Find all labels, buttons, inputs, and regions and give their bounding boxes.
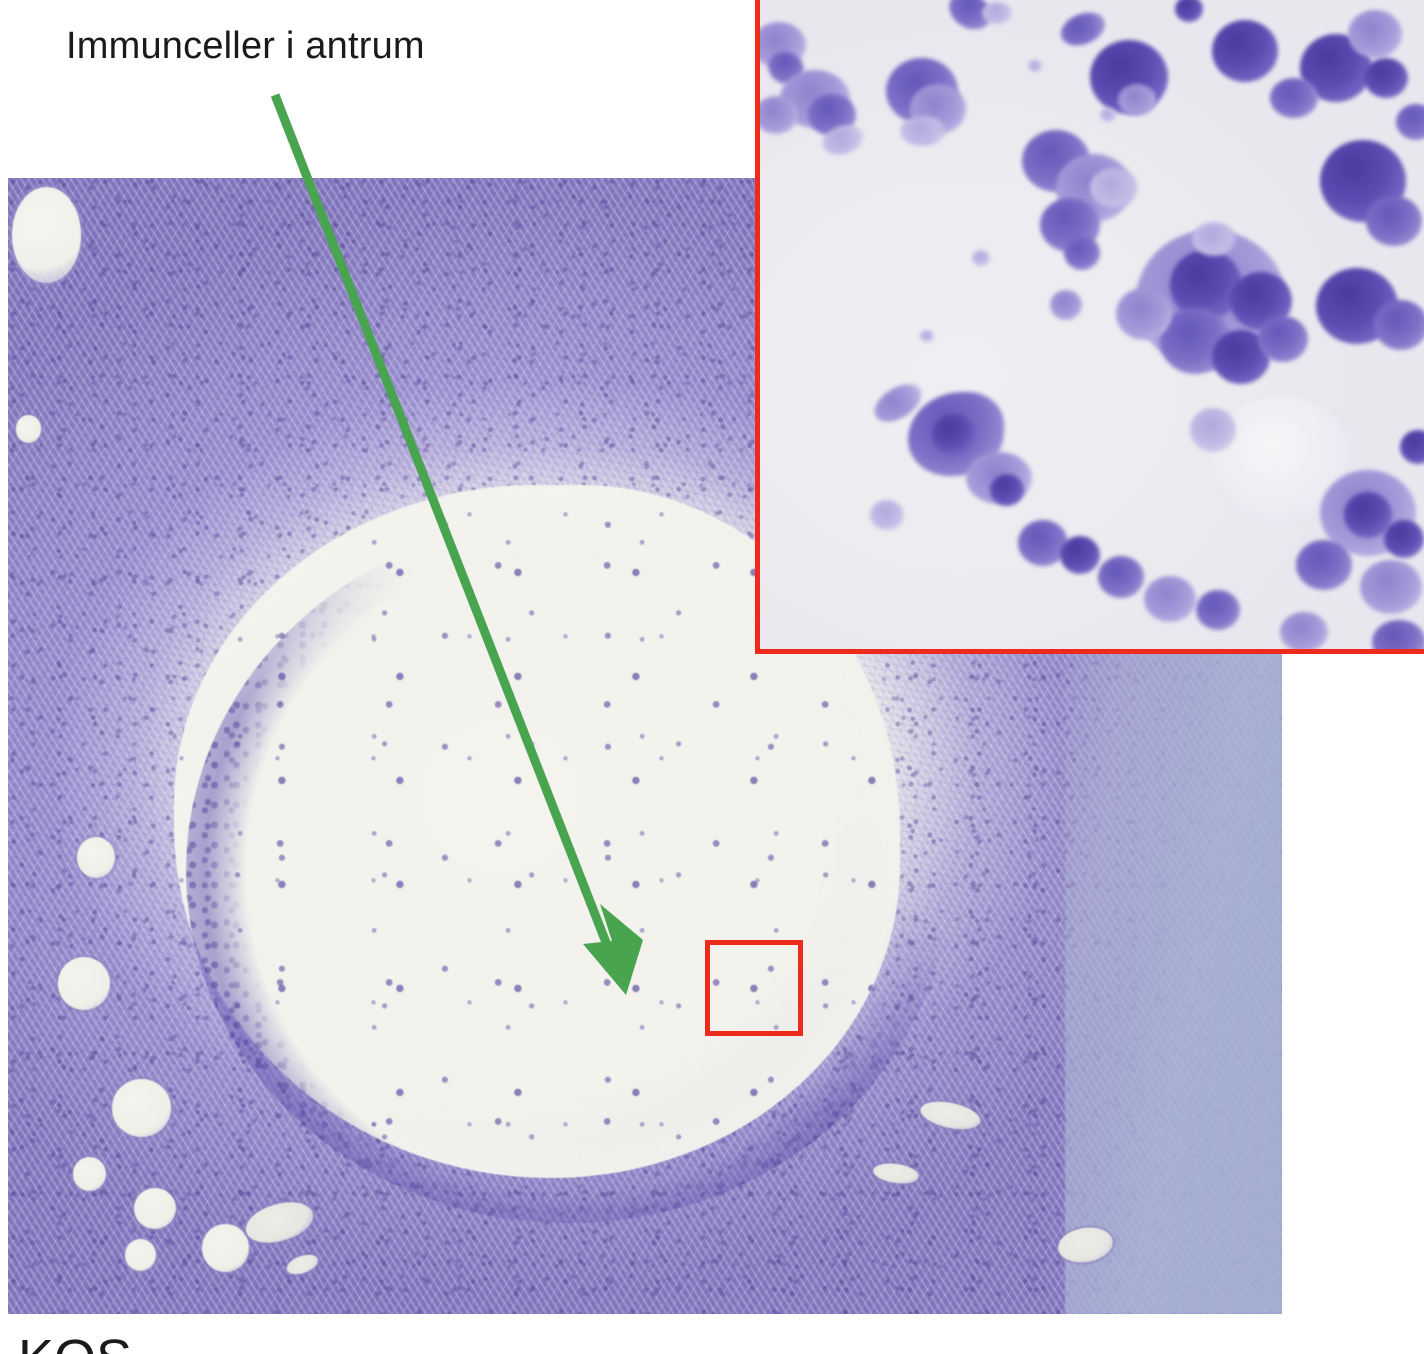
immune-cell (900, 116, 946, 146)
immune-cell (1366, 196, 1422, 246)
immune-cell (1348, 10, 1402, 58)
primordial-follicle (16, 415, 41, 442)
cell-debris (920, 330, 934, 342)
primordial-follicle (202, 1224, 249, 1272)
follicle-upper-left (12, 187, 81, 282)
immune-cell (1144, 576, 1196, 622)
immune-cell (1192, 222, 1236, 256)
immune-cell (1296, 540, 1352, 590)
immune-cell (755, 96, 798, 134)
callout-box-region-of-interest[interactable] (705, 940, 803, 1036)
immune-cell (1364, 58, 1408, 98)
immune-cell (1098, 556, 1144, 598)
primordial-follicle (58, 957, 110, 1009)
immune-cell (990, 474, 1024, 506)
immune-cell (1258, 316, 1308, 362)
immune-cell (1212, 20, 1278, 82)
medulla-connective-band (1065, 553, 1282, 1314)
immune-cell (1384, 520, 1424, 558)
immune-cell (1060, 536, 1100, 574)
immune-cell (1372, 620, 1424, 654)
cell-debris (1028, 60, 1042, 72)
bottom-caption: KOS (18, 1330, 132, 1354)
immune-cell (870, 500, 904, 530)
cell-debris (1100, 108, 1116, 122)
immune-cell (932, 414, 976, 456)
immune-cell (1116, 288, 1172, 340)
inset-high-magnification-panel[interactable] (755, 0, 1424, 654)
page-title: Immunceller i antrum (66, 22, 425, 70)
primordial-follicle (125, 1239, 156, 1271)
immune-cell (1374, 300, 1424, 350)
cell-debris (972, 250, 990, 266)
immune-cell (1064, 236, 1100, 270)
immune-cell (1280, 612, 1328, 652)
immune-cell (1360, 560, 1422, 614)
primordial-follicle (112, 1079, 171, 1137)
immune-cell (1270, 78, 1318, 118)
immune-cell (1118, 84, 1156, 116)
immune-cell (1190, 408, 1236, 452)
primordial-follicle (77, 837, 115, 878)
immune-cell (982, 2, 1012, 24)
immune-cell (1090, 168, 1138, 208)
immune-cell (1050, 290, 1082, 320)
immune-cell (1196, 590, 1240, 630)
primordial-follicle (134, 1188, 176, 1229)
slide-canvas: Immunceller i antrum (0, 0, 1424, 1354)
